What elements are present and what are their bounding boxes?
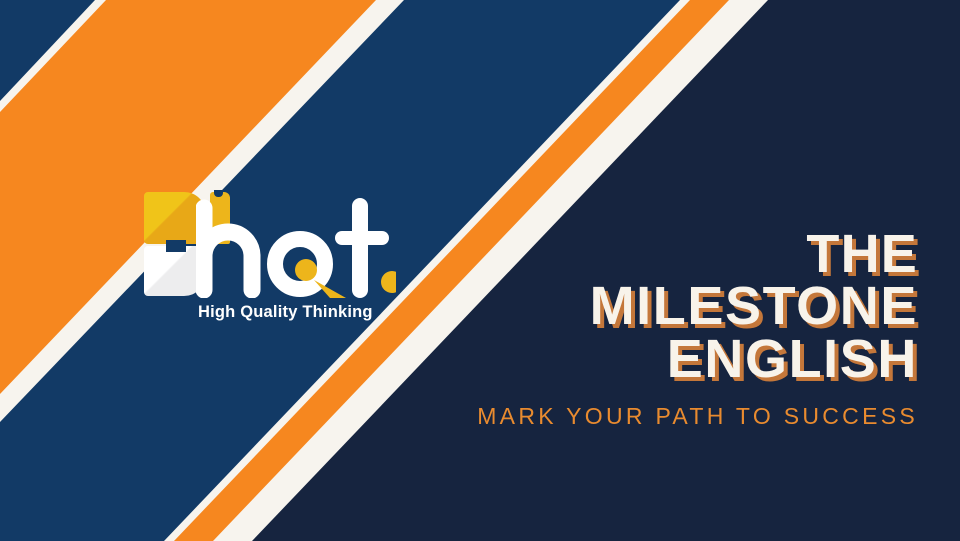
title-slide: High Quality Thinking THE MILESTONE ENGL… — [0, 0, 960, 541]
logo-tagline: High Quality Thinking — [198, 303, 373, 322]
logo-lockup: High Quality Thinking — [140, 186, 386, 298]
headline-line-3: ENGLISH — [358, 333, 918, 385]
logo-mark-notch — [166, 240, 186, 252]
sub-tagline: MARK YOUR PATH TO SUCCESS — [358, 403, 918, 430]
headline-block: THE MILESTONE ENGLISH MARK YOUR PATH TO … — [358, 228, 918, 430]
headline-line-2: MILESTONE — [358, 280, 918, 332]
headline-line-1: THE — [358, 228, 918, 280]
